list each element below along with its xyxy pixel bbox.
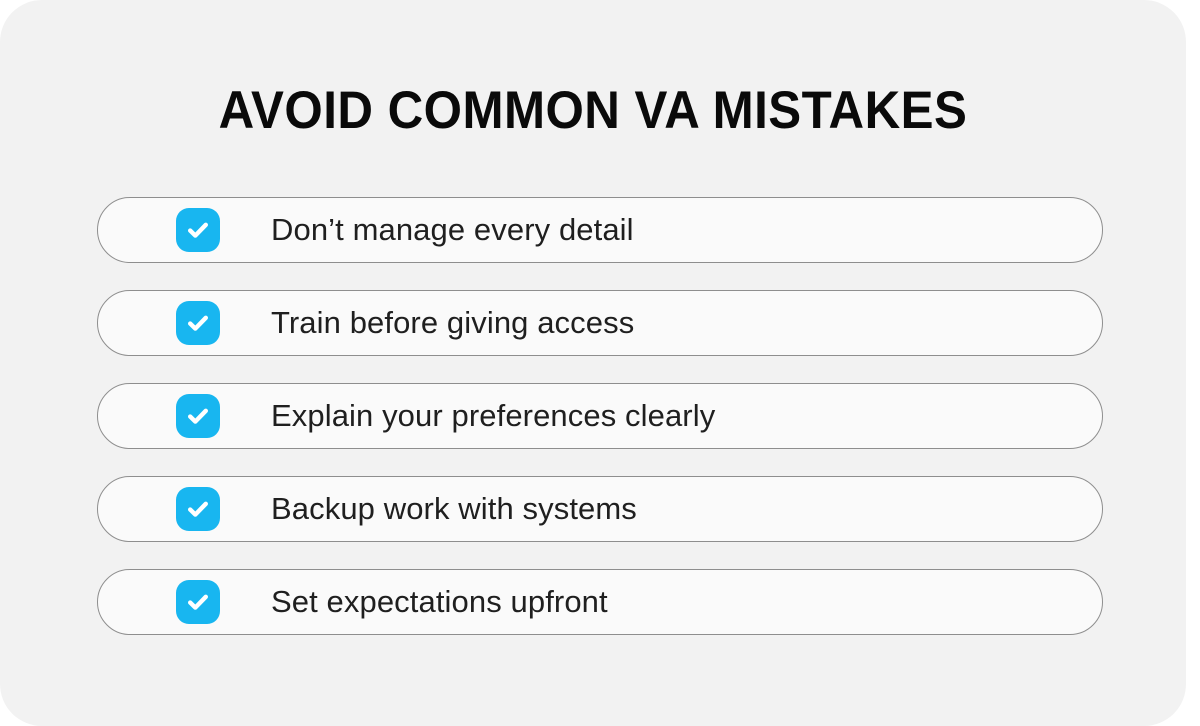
- list-item-label: Don’t manage every detail: [271, 212, 634, 248]
- list-item-label: Set expectations upfront: [271, 584, 608, 620]
- list-item[interactable]: Don’t manage every detail: [97, 197, 1103, 263]
- list-item-label: Backup work with systems: [271, 491, 637, 527]
- list-item-label: Explain your preferences clearly: [271, 398, 715, 434]
- list-item[interactable]: Backup work with systems: [97, 476, 1103, 542]
- checkbox-checked-icon[interactable]: [176, 208, 220, 252]
- list-item[interactable]: Explain your preferences clearly: [97, 383, 1103, 449]
- checklist-card: AVOID COMMON VA MISTAKES Don’t manage ev…: [0, 0, 1186, 726]
- list-item[interactable]: Train before giving access: [97, 290, 1103, 356]
- list-item[interactable]: Set expectations upfront: [97, 569, 1103, 635]
- screenshot-canvas: AVOID COMMON VA MISTAKES Don’t manage ev…: [0, 0, 1200, 726]
- checklist: Don’t manage every detail Train before g…: [97, 197, 1103, 635]
- checkbox-checked-icon[interactable]: [176, 394, 220, 438]
- page-title: AVOID COMMON VA MISTAKES: [42, 80, 1145, 142]
- list-item-label: Train before giving access: [271, 305, 634, 341]
- checkbox-checked-icon[interactable]: [176, 487, 220, 531]
- checkbox-checked-icon[interactable]: [176, 301, 220, 345]
- checkbox-checked-icon[interactable]: [176, 580, 220, 624]
